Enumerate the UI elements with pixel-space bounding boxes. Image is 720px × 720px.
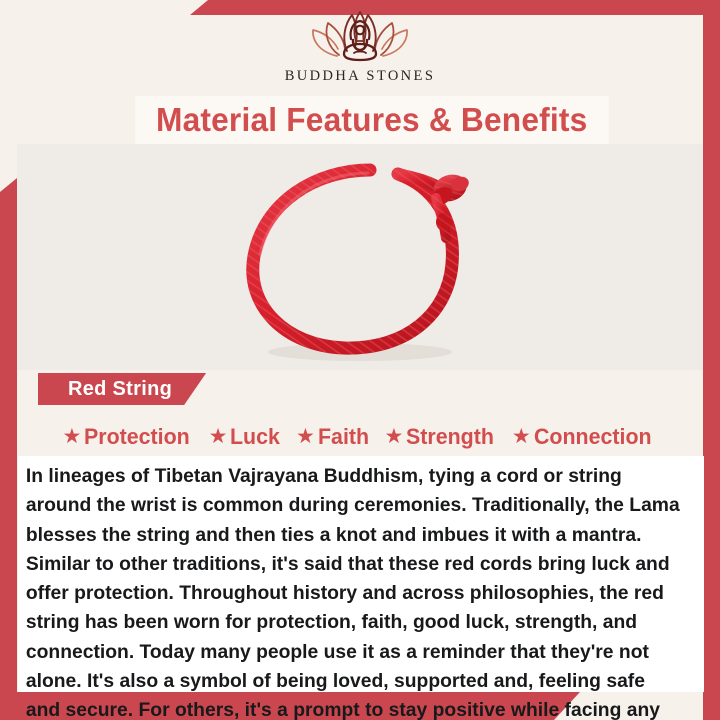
benefit-item-luck: ★ Luck	[209, 424, 283, 450]
benefit-label: Protection	[84, 424, 190, 450]
star-icon: ★	[209, 426, 228, 447]
benefit-label: Faith	[318, 424, 369, 450]
description-text: In lineages of Tibetan Vajrayana Buddhis…	[18, 456, 694, 720]
star-icon: ★	[512, 426, 531, 447]
red-string-bracelet-image	[220, 146, 500, 370]
benefit-label: Luck	[230, 424, 280, 450]
brand-name: BUDDHA STONES	[0, 68, 720, 85]
product-name-ribbon: Red String	[38, 373, 206, 405]
description-panel: In lineages of Tibetan Vajrayana Buddhis…	[18, 456, 704, 692]
title-banner: Material Features & Benefits	[135, 96, 609, 144]
left-accent-bar	[0, 178, 17, 720]
infographic-poster: BUDDHA STONES Material Features & Benefi…	[0, 0, 720, 720]
right-accent-bar	[703, 0, 720, 720]
page-title: Material Features & Benefits	[156, 101, 587, 139]
product-name-label: Red String	[68, 378, 172, 401]
star-icon: ★	[385, 426, 404, 447]
lotus-meditation-icon	[308, 8, 412, 66]
benefit-item-faith: ★ Faith	[296, 424, 372, 450]
benefit-item-protection: ★ Protection	[63, 424, 196, 450]
benefits-row: ★ Protection ★ Luck ★ Faith ★ Strength ★…	[17, 420, 703, 454]
product-image-stage	[17, 144, 703, 370]
benefit-label: Connection	[534, 424, 652, 450]
star-icon: ★	[63, 426, 82, 447]
benefit-label: Strength	[406, 424, 494, 450]
benefit-item-strength: ★ Strength	[385, 424, 499, 450]
brand-logo-block: BUDDHA STONES	[0, 8, 720, 85]
star-icon: ★	[296, 426, 315, 447]
benefit-item-connection: ★ Connection	[512, 424, 658, 450]
